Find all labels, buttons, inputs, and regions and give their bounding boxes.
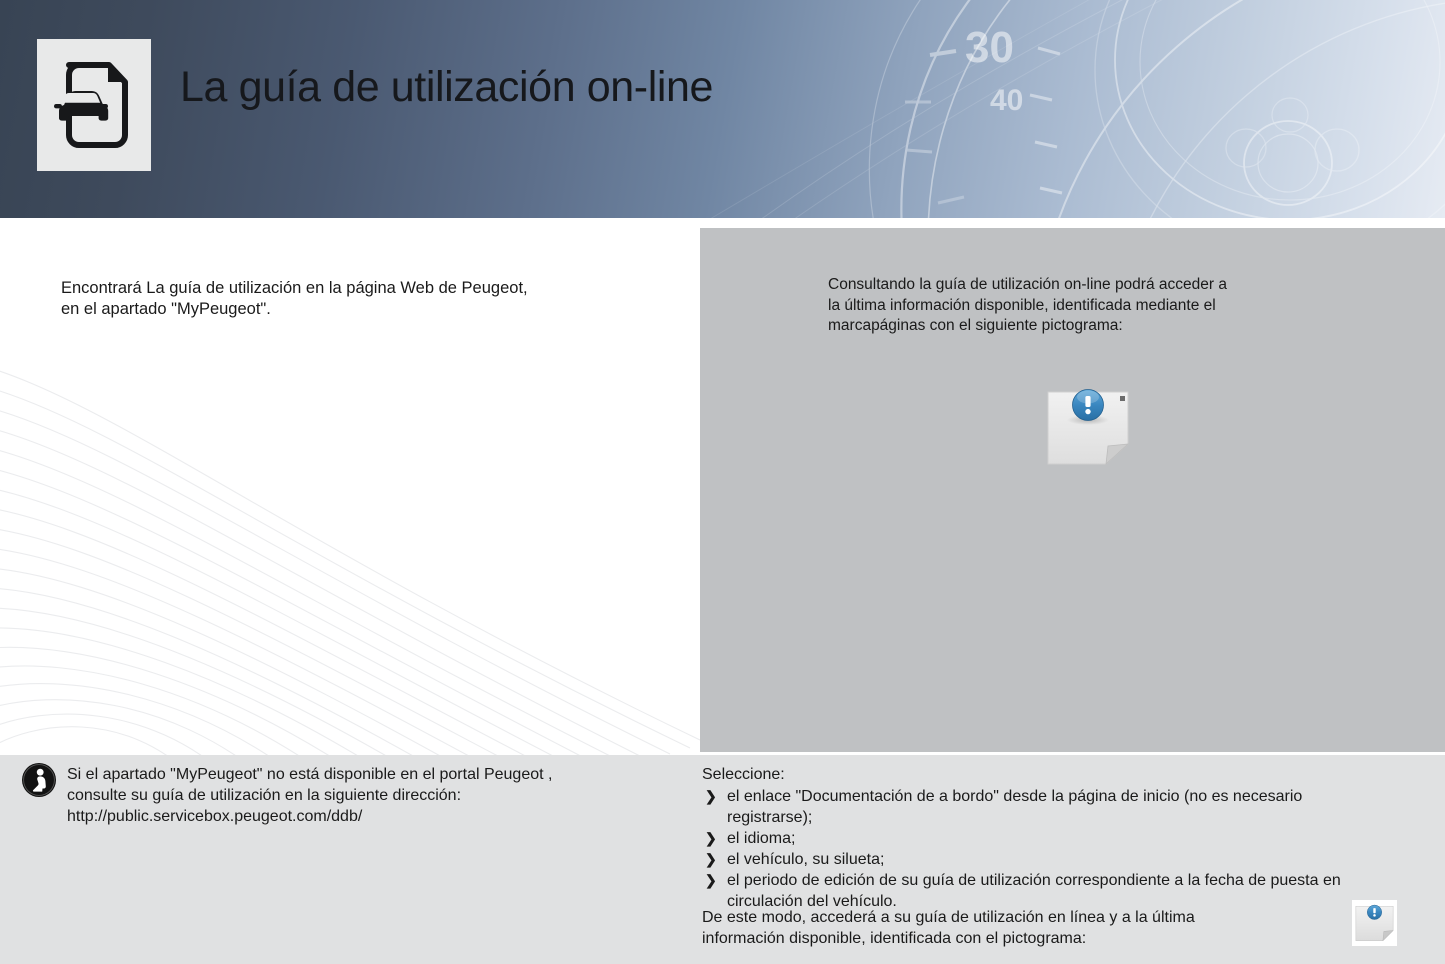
selection-steps-list: ❯ el enlace "Documentación de a bordo" d… bbox=[702, 786, 1352, 912]
list-item: ❯ el idioma; bbox=[702, 828, 1352, 849]
list-item: ❯ el periodo de edición de su guía de ut… bbox=[702, 870, 1352, 912]
left-intro-paragraph: Encontrará La guía de utilización en la … bbox=[61, 278, 661, 320]
footer-tail-paragraph: De este modo, accederá a su guía de util… bbox=[702, 907, 1342, 949]
panel-line-3: marcapáginas con el siguiente pictograma… bbox=[828, 316, 1358, 337]
page-title: La guía de utilización on-line bbox=[180, 63, 713, 112]
list-item-label: el enlace "Documentación de a bordo" des… bbox=[727, 788, 1302, 826]
chevron-right-icon: ❯ bbox=[705, 828, 717, 849]
main-content: Encontrará La guía de utilización en la … bbox=[0, 218, 1445, 755]
footer-strip: Si el apartado "MyPeugeot" no está dispo… bbox=[0, 755, 1445, 964]
panel-line-1: Consultando la guía de utilización on-li… bbox=[828, 275, 1358, 296]
footer-left-paragraph: Si el apartado "MyPeugeot" no está dispo… bbox=[67, 764, 667, 827]
footer-right-block: Seleccione: ❯ el enlace "Documentación d… bbox=[700, 755, 1445, 964]
footer-left-block: Si el apartado "MyPeugeot" no está dispo… bbox=[0, 755, 700, 964]
panel-line-2: la última información disponible, identi… bbox=[828, 296, 1358, 317]
panel-paragraph: Consultando la guía de utilización on-li… bbox=[828, 275, 1358, 337]
watermark-label-40: 40 bbox=[990, 84, 1023, 117]
chevron-right-icon: ❯ bbox=[705, 786, 717, 807]
list-item: ❯ el vehículo, su silueta; bbox=[702, 849, 1352, 870]
page-header: 30 40 La guía de utilización on-line bbox=[0, 0, 1445, 218]
watermark-label-30: 30 bbox=[965, 23, 1014, 72]
footer-left-line-2: consulte su guía de utilización en la si… bbox=[67, 785, 667, 806]
footer-left-line-3: http://public.servicebox.peugeot.com/ddb… bbox=[67, 806, 667, 827]
list-item: ❯ el enlace "Documentación de a bordo" d… bbox=[702, 786, 1352, 828]
bookmark-page-info-icon bbox=[1352, 900, 1397, 946]
select-heading: Seleccione: bbox=[702, 764, 785, 785]
left-intro-line-2: en el apartado "MyPeugeot". bbox=[61, 299, 661, 320]
footer-tail-line-1: De este modo, accederá a su guía de util… bbox=[702, 907, 1342, 928]
footer-tail-line-2: información disponible, identificada con… bbox=[702, 928, 1342, 949]
list-item-label: el periodo de edición de su guía de util… bbox=[727, 872, 1341, 910]
mechanic-info-icon bbox=[21, 762, 57, 798]
chevron-right-icon: ❯ bbox=[705, 849, 717, 870]
bookmark-page-info-icon bbox=[1044, 386, 1132, 466]
list-item-label: el idioma; bbox=[727, 830, 795, 847]
list-item-label: el vehículo, su silueta; bbox=[727, 851, 884, 868]
chevron-right-icon: ❯ bbox=[705, 870, 717, 891]
left-column: Encontrará La guía de utilización en la … bbox=[0, 218, 700, 755]
car-document-icon bbox=[37, 39, 151, 171]
footer-left-line-1: Si el apartado "MyPeugeot" no está dispo… bbox=[67, 764, 667, 785]
online-guide-panel: Consultando la guía de utilización on-li… bbox=[700, 228, 1445, 752]
left-intro-line-1: Encontrará La guía de utilización en la … bbox=[61, 278, 661, 299]
